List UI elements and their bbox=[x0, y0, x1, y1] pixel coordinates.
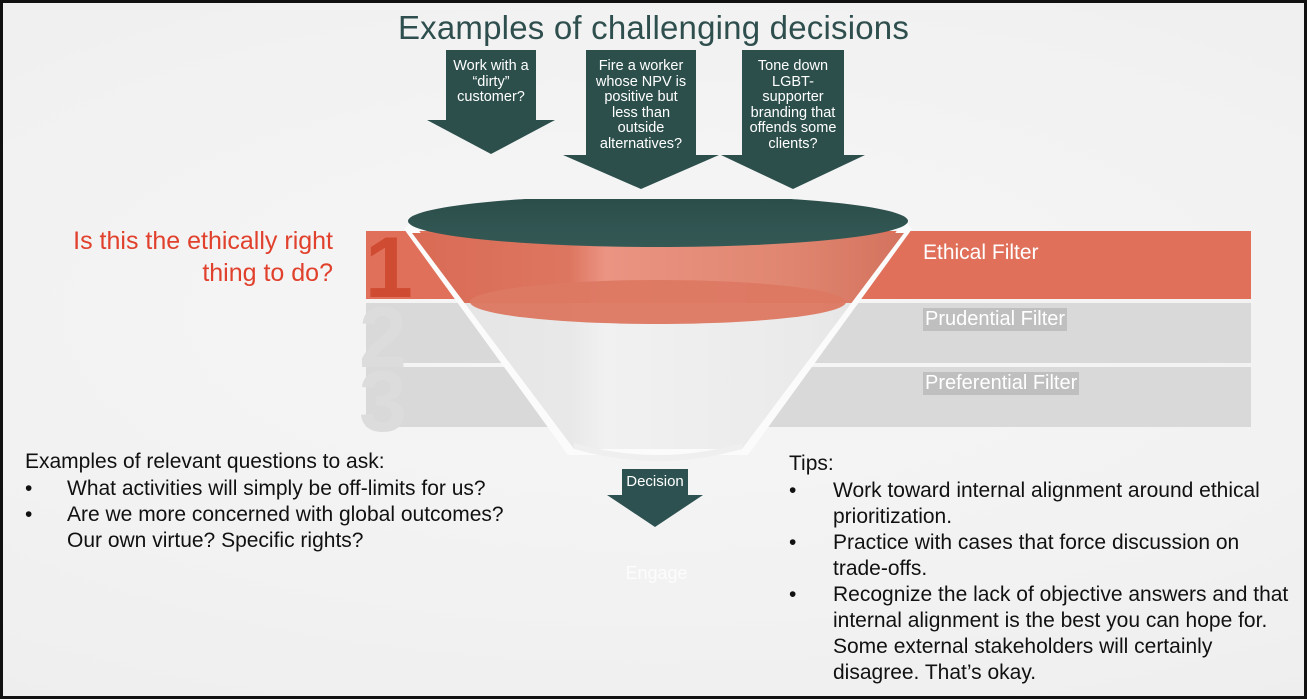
relevant-questions-heading: Examples of relevant questions to ask: bbox=[25, 449, 565, 475]
funnel-graphic bbox=[398, 199, 918, 461]
list-item: • Are we more concerned with global outc… bbox=[25, 502, 565, 528]
question-arrow-dirty-customer: Work with a “dirty” customer? bbox=[427, 50, 555, 154]
relevant-questions-continuation: Our own virtue? Specific rights? bbox=[67, 528, 565, 554]
list-item: • Work toward internal alignment around … bbox=[789, 478, 1299, 530]
list-item-label: Practice with cases that force discussio… bbox=[833, 530, 1299, 582]
ethical-question-text: Is this the ethically right thing to do? bbox=[33, 225, 333, 289]
list-item-label: Are we more concerned with global outcom… bbox=[67, 502, 565, 528]
arrow-head-icon bbox=[563, 155, 719, 189]
slide-canvas: Examples of challenging decisions Work w… bbox=[0, 0, 1307, 699]
list-item: • Recognize the lack of objective answer… bbox=[789, 582, 1299, 686]
arrow-head-icon bbox=[427, 120, 555, 154]
question-arrow-lgbt-branding: Tone down LGBT-supporter branding that o… bbox=[721, 50, 865, 189]
list-item: • What activities will simply be off-lim… bbox=[25, 476, 565, 502]
decision-label: Decision bbox=[622, 469, 688, 495]
list-item-label: Recognize the lack of objective answers … bbox=[833, 582, 1299, 686]
bullet-icon: • bbox=[789, 582, 833, 686]
filter-label-ethical: Ethical Filter bbox=[923, 241, 1039, 265]
question-arrow-label: Fire a worker whose NPV is positive but … bbox=[586, 50, 696, 155]
relevant-questions-block: Examples of relevant questions to ask: •… bbox=[25, 449, 565, 554]
filter-label-prudential: Prudential Filter bbox=[923, 308, 1067, 331]
bullet-icon: • bbox=[789, 530, 833, 582]
filter-label-preferential: Preferential Filter bbox=[923, 372, 1079, 395]
question-arrow-label: Tone down LGBT-supporter branding that o… bbox=[742, 50, 844, 155]
page-title: Examples of challenging decisions bbox=[3, 9, 1304, 47]
list-item-label: What activities will simply be off-limit… bbox=[67, 476, 565, 502]
tips-heading: Tips: bbox=[789, 451, 1299, 477]
arrow-head-icon bbox=[607, 495, 703, 527]
decision-arrow: Decision bbox=[607, 469, 703, 527]
bullet-icon: • bbox=[25, 502, 67, 528]
bullet-icon: • bbox=[25, 476, 67, 502]
arrow-head-icon bbox=[721, 155, 865, 189]
tips-block: Tips: • Work toward internal alignment a… bbox=[789, 451, 1299, 686]
list-item: • Practice with cases that force discuss… bbox=[789, 530, 1299, 582]
question-arrow-label: Work with a “dirty” customer? bbox=[446, 50, 536, 120]
list-item-label: Work toward internal alignment around et… bbox=[833, 478, 1299, 530]
question-arrow-fire-worker: Fire a worker whose NPV is positive but … bbox=[563, 50, 719, 189]
bullet-icon: • bbox=[789, 478, 833, 530]
